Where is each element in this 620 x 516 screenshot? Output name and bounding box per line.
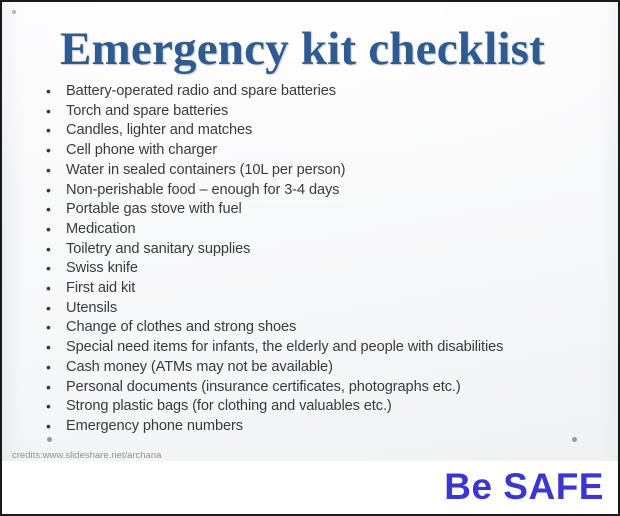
bullet-icon: • — [46, 141, 58, 160]
selection-handle-icon — [47, 437, 52, 442]
list-item-label: Emergency phone numbers — [66, 417, 592, 436]
footer-band: Be SAFE — [2, 461, 618, 514]
page-title: Emergency kit checklist — [60, 23, 580, 75]
list-item-label: Swiss knife — [66, 259, 592, 278]
list-item: • Non-perishable food – enough for 3-4 d… — [42, 181, 592, 200]
list-item-label: Battery-operated radio and spare batteri… — [66, 82, 592, 101]
list-item: • First aid kit — [42, 279, 592, 298]
list-item: • Water in sealed containers (10L per pe… — [42, 161, 592, 180]
bullet-icon: • — [46, 220, 58, 239]
list-item-label: Portable gas stove with fuel — [66, 200, 592, 219]
list-item-label: First aid kit — [66, 279, 592, 298]
bullet-icon: • — [46, 259, 58, 278]
selection-handle-icon — [572, 437, 577, 442]
bullet-icon: • — [46, 397, 58, 416]
list-item-label: Cash money (ATMs may not be available) — [66, 358, 592, 377]
list-item: • Strong plastic bags (for clothing and … — [42, 397, 592, 416]
list-item: • Utensils — [42, 299, 592, 318]
list-item: • Torch and spare batteries — [42, 102, 592, 121]
list-item: • Personal documents (insurance certific… — [42, 378, 592, 397]
list-item: • Candles, lighter and matches — [42, 121, 592, 140]
list-item: • Emergency phone numbers — [42, 417, 592, 436]
list-item-label: Change of clothes and strong shoes — [66, 318, 592, 337]
bullet-icon: • — [46, 378, 58, 397]
list-item-label: Candles, lighter and matches — [66, 121, 592, 140]
list-item: • Special need items for infants, the el… — [42, 338, 592, 357]
bullet-icon: • — [46, 417, 58, 436]
list-item: • Cell phone with charger — [42, 141, 592, 160]
bullet-icon: • — [46, 161, 58, 180]
bullet-icon: • — [46, 200, 58, 219]
list-item-label: Non-perishable food – enough for 3-4 day… — [66, 181, 592, 200]
list-item-label: Personal documents (insurance certificat… — [66, 378, 592, 397]
list-item: • Swiss knife — [42, 259, 592, 278]
list-item: • Cash money (ATMs may not be available) — [42, 358, 592, 377]
list-item: • Toiletry and sanitary supplies — [42, 240, 592, 259]
bullet-icon: • — [46, 82, 58, 101]
bullet-icon: • — [46, 121, 58, 140]
list-item-label: Torch and spare batteries — [66, 102, 592, 121]
be-safe-text: Be SAFE — [444, 465, 604, 509]
list-item: • Battery-operated radio and spare batte… — [42, 82, 592, 101]
bullet-icon: • — [46, 181, 58, 200]
bullet-icon: • — [46, 338, 58, 357]
bullet-icon: • — [46, 358, 58, 377]
list-item: • Portable gas stove with fuel — [42, 200, 592, 219]
list-item-label: Toiletry and sanitary supplies — [66, 240, 592, 259]
list-item: • Change of clothes and strong shoes — [42, 318, 592, 337]
list-item-label: Cell phone with charger — [66, 141, 592, 160]
bullet-icon: • — [46, 318, 58, 337]
checklist: • Battery-operated radio and spare batte… — [42, 82, 592, 437]
list-item-label: Strong plastic bags (for clothing and va… — [66, 397, 592, 416]
credits-text: credits:www.slideshare.net/archana — [12, 450, 161, 461]
list-item-label: Special need items for infants, the elde… — [66, 338, 592, 357]
list-item-label: Water in sealed containers (10L per pers… — [66, 161, 592, 180]
bullet-icon: • — [46, 279, 58, 298]
list-item-label: Utensils — [66, 299, 592, 318]
bullet-icon: • — [46, 102, 58, 121]
slide-canvas: Emergency kit checklist • Battery-operat… — [2, 2, 618, 461]
bullet-icon: • — [46, 240, 58, 259]
list-item: • Medication — [42, 220, 592, 239]
list-item-label: Medication — [66, 220, 592, 239]
slide-frame: Emergency kit checklist • Battery-operat… — [0, 0, 620, 516]
bullet-icon: • — [46, 299, 58, 318]
selection-handle-icon — [12, 10, 16, 14]
